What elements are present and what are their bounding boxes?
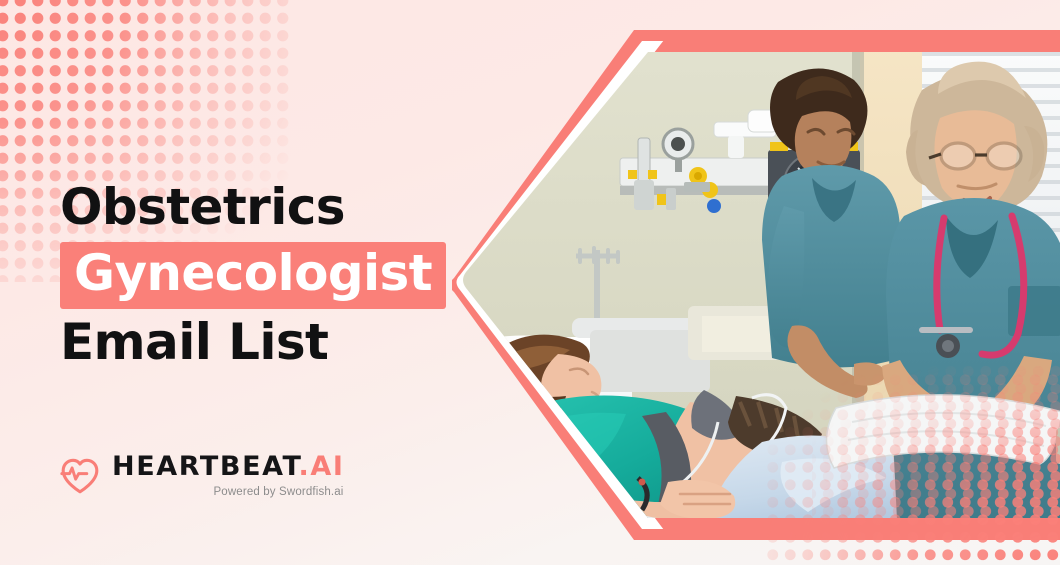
photo-frame [452, 30, 1060, 540]
logo-tagline: Powered by Swordfish.ai [112, 486, 343, 498]
logo-word-main: HEARTBEAT [112, 451, 298, 482]
halftone-over-photo [812, 360, 1060, 540]
heartbeat-ai-logo[interactable]: HEARTBEAT.AI Powered by Swordfish.ai [58, 452, 344, 498]
headline-line-2-highlight: Gynecologist [60, 242, 446, 309]
headline-line-2-wrapper: Gynecologist [60, 237, 480, 313]
logo-word-suffix: .AI [298, 451, 344, 482]
logo-wordmark: HEARTBEAT.AI [112, 452, 344, 482]
headline-line-1: Obstetrics [60, 178, 480, 237]
headline-block: Obstetrics Gynecologist Email List [60, 178, 480, 372]
heartbeat-pulse-icon [58, 455, 102, 495]
banner-canvas: Obstetrics Gynecologist Email List HEART… [0, 0, 1060, 565]
logo-text-block: HEARTBEAT.AI Powered by Swordfish.ai [112, 452, 344, 498]
headline-line-3: Email List [60, 313, 480, 372]
clinic-photograph [452, 30, 1060, 540]
